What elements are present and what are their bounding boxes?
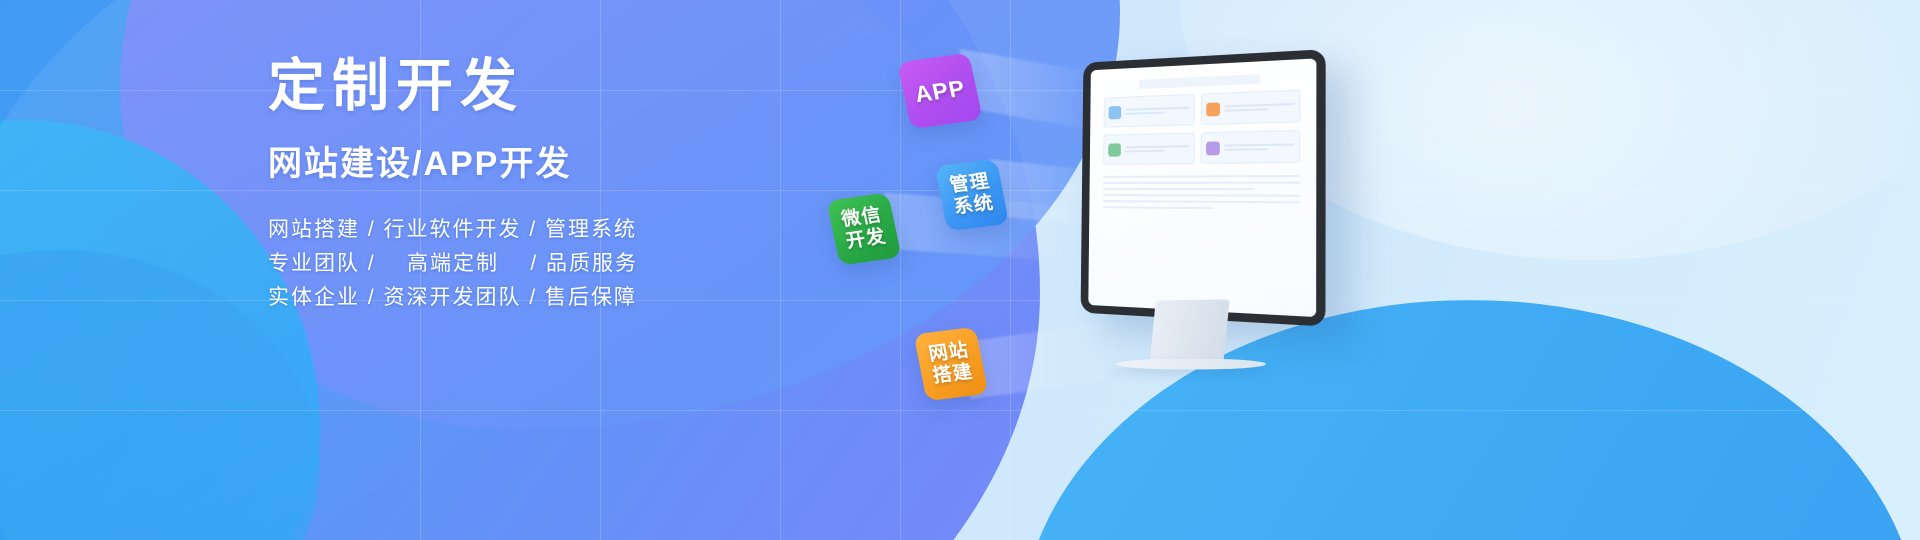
card-text-lines [1224, 143, 1295, 151]
tile-system-line-2: 系统 [952, 193, 996, 219]
feature-line-3: 实体企业 / 资深开发团队 / 售后保障 [268, 281, 698, 315]
tile-wechat-line-2: 开发 [844, 226, 888, 253]
card-icon [1108, 143, 1121, 156]
card-text-lines [1125, 145, 1190, 152]
tile-management-system[interactable]: 管理 系统 [935, 159, 1009, 231]
page-title: 定制开发 [268, 56, 698, 116]
monitor-stand [1150, 299, 1230, 362]
tile-website-build[interactable]: 网站 搭建 [914, 327, 989, 401]
screen-card [1104, 94, 1195, 128]
screen-card-row-1 [1104, 90, 1301, 128]
screen-card [1201, 90, 1300, 125]
headline-text-block: 定制开发 网站建设/APP开发 网站搭建 / 行业软件开发 / 管理系统 专业团… [268, 56, 698, 315]
card-icon [1206, 141, 1220, 155]
screen-header-bar [1139, 74, 1261, 89]
monitor-screen [1088, 58, 1316, 317]
screen-card-row-2 [1103, 130, 1300, 165]
page-subtitle: 网站建设/APP开发 [268, 136, 698, 185]
screen-card [1103, 133, 1194, 165]
feature-line-2: 专业团队 / 高端定制 / 品质服务 [268, 247, 698, 281]
monitor-frame [1081, 49, 1326, 326]
tile-website-line-2: 搭建 [931, 362, 975, 388]
promo-banner: 定制开发 网站建设/APP开发 网站搭建 / 行业软件开发 / 管理系统 专业团… [0, 0, 1920, 540]
card-icon [1206, 102, 1220, 116]
feature-list: 网站搭建 / 行业软件开发 / 管理系统 专业团队 / 高端定制 / 品质服务 … [268, 213, 698, 315]
card-text-lines [1224, 103, 1294, 112]
screen-card [1201, 130, 1301, 164]
tile-app-line-1: APP [912, 74, 968, 107]
monitor-illustration [1082, 62, 1314, 312]
tile-app[interactable]: APP [897, 53, 983, 130]
card-icon [1109, 105, 1122, 119]
card-text-lines [1125, 107, 1190, 115]
tile-wechat-development[interactable]: 微信 开发 [826, 192, 901, 265]
screen-body-text [1103, 175, 1300, 210]
monitor-base [1115, 359, 1267, 370]
feature-line-1: 网站搭建 / 行业软件开发 / 管理系统 [268, 213, 698, 247]
